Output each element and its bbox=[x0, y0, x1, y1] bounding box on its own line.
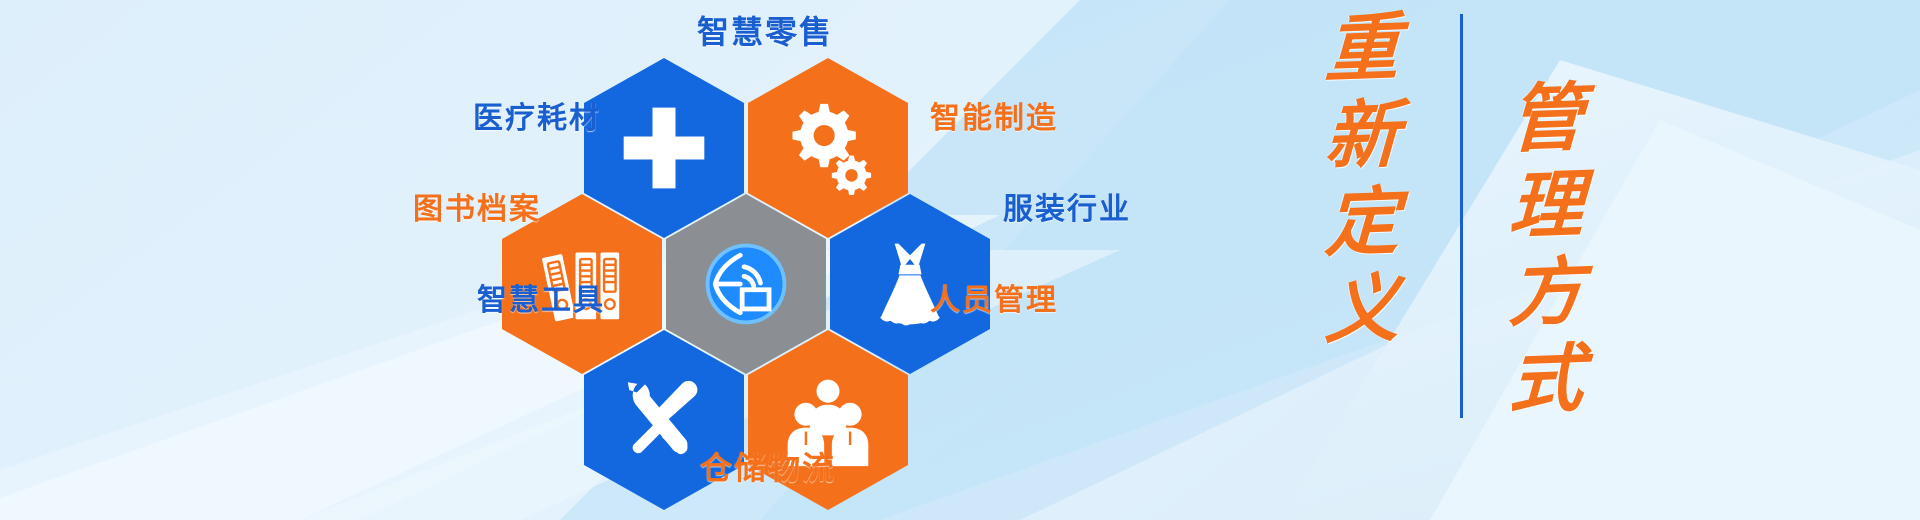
label-manufacturing: 智能制造 bbox=[930, 104, 1058, 134]
label-retail: 智慧零售 bbox=[697, 16, 833, 48]
headline-char: 重 bbox=[1323, 7, 1400, 92]
headline-column-left: 重 新 定 义 bbox=[1312, 8, 1412, 352]
label-tools: 智慧工具 bbox=[477, 286, 605, 316]
headline-block: 重 新 定 义 管 理 方 式 bbox=[1300, 0, 1650, 520]
banner-root: 智慧零售 医疗耗材 智能制造 图书档案 服装行业 智慧工具 人员管理 仓储物流 … bbox=[0, 0, 1920, 520]
label-logistics: 仓储物流 bbox=[700, 452, 836, 484]
rfid-signal-logo-icon bbox=[698, 236, 794, 332]
headline-char: 理 bbox=[1507, 164, 1584, 249]
medical-cross-icon bbox=[616, 100, 712, 196]
headline-char: 定 bbox=[1323, 180, 1400, 265]
wrench-screwdriver-icon bbox=[616, 372, 712, 468]
headline-char: 义 bbox=[1323, 267, 1400, 352]
headline-column-right: 管 理 方 式 bbox=[1496, 78, 1596, 422]
headline-char: 新 bbox=[1323, 94, 1400, 179]
label-apparel: 服装行业 bbox=[1003, 195, 1131, 225]
headline-char: 方 bbox=[1507, 250, 1584, 335]
headline-char: 式 bbox=[1507, 337, 1584, 422]
gears-icon bbox=[780, 100, 876, 196]
headline-char: 管 bbox=[1507, 77, 1584, 162]
label-people: 人员管理 bbox=[930, 286, 1058, 316]
headline-divider bbox=[1460, 14, 1463, 418]
label-archive: 图书档案 bbox=[413, 195, 541, 225]
label-medical: 医疗耗材 bbox=[473, 104, 601, 134]
